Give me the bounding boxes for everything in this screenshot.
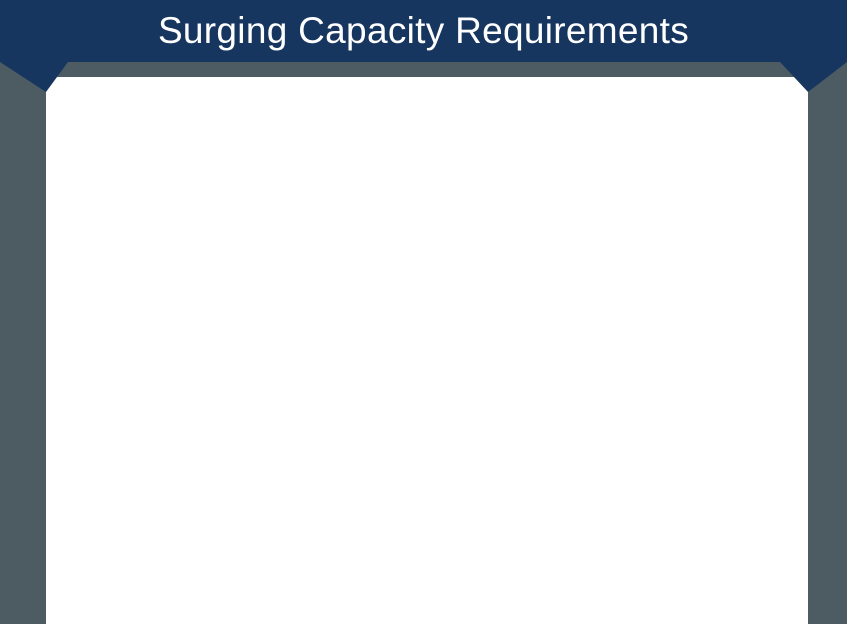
content-card (46, 77, 808, 624)
page-title: Surging Capacity Requirements (0, 0, 847, 62)
